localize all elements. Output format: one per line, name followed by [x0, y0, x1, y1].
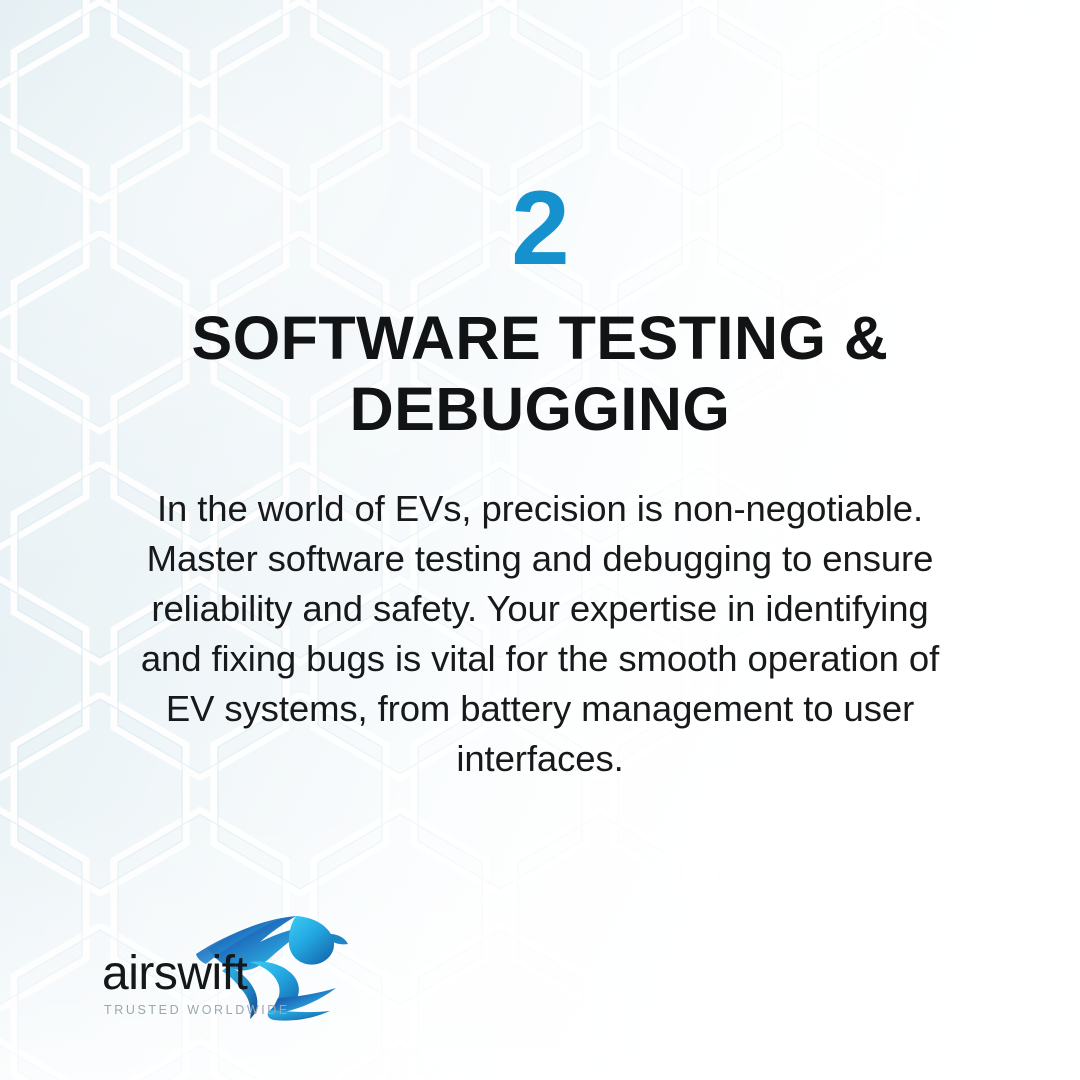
- headline-title: SOFTWARE TESTING & DEBUGGING: [96, 303, 984, 445]
- airswift-logo: airswift TRUSTED WORLDWIDE: [100, 914, 350, 1022]
- logo-wordmark: airswift: [102, 950, 247, 998]
- social-card-slide: 2 SOFTWARE TESTING & DEBUGGING In the wo…: [0, 0, 1080, 1080]
- step-number: 2: [0, 176, 1080, 281]
- body-paragraph: In the world of EVs, precision is non-ne…: [140, 484, 940, 784]
- logo-tagline: TRUSTED WORLDWIDE: [104, 1004, 290, 1017]
- slide-content: 2 SOFTWARE TESTING & DEBUGGING In the wo…: [0, 0, 1080, 1080]
